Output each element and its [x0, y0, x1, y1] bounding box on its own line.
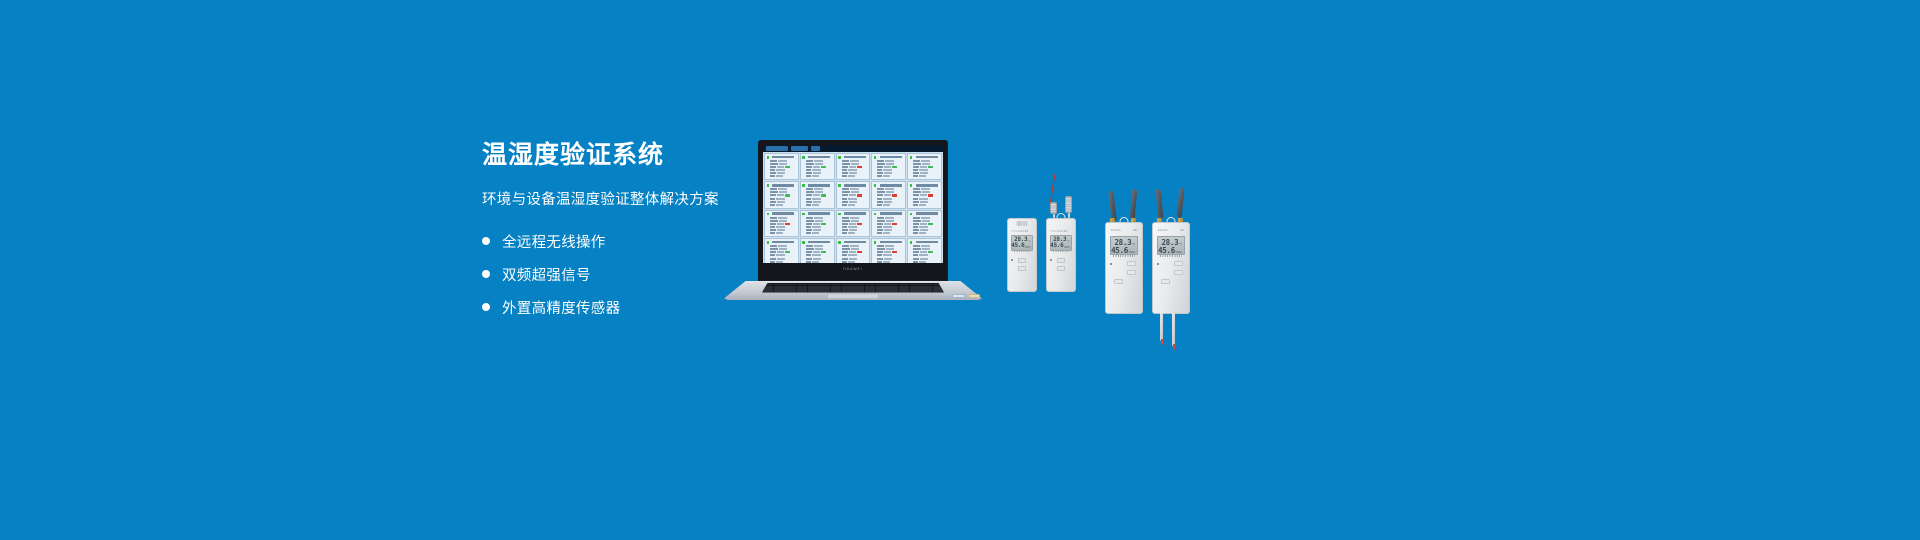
device-button-set[interactable]	[1161, 279, 1170, 284]
sensor-card-line	[913, 194, 940, 196]
sensor-status-dot-icon	[802, 213, 805, 216]
sensor-field-value	[776, 169, 785, 171]
keyboard-key[interactable]	[763, 290, 774, 292]
sensor-card[interactable]	[800, 181, 835, 208]
sensor-card-line	[913, 166, 940, 168]
sensor-card-line	[806, 160, 833, 162]
sensor-field-key	[842, 229, 848, 231]
device-button-up[interactable]	[1174, 261, 1183, 266]
sensor-field-key	[913, 220, 921, 222]
sensor-field-key	[842, 166, 848, 168]
sensor-field-key	[806, 204, 811, 206]
sensor-card-line	[770, 166, 797, 168]
sensor-card-line	[913, 248, 940, 250]
sensor-field-key	[877, 163, 885, 165]
device-button-up[interactable]	[1127, 261, 1136, 266]
sensor-field-value	[922, 163, 930, 165]
keyboard-key[interactable]	[865, 290, 876, 292]
sensor-field-value	[920, 194, 927, 196]
sensor-card-line	[806, 245, 833, 247]
sensor-card-title	[772, 156, 794, 159]
sensor-card-line	[806, 175, 833, 177]
sensor-field-value	[848, 232, 855, 234]
keyboard-key[interactable]	[797, 290, 808, 292]
sensor-card-line	[877, 201, 904, 203]
sensor-card-line	[877, 169, 904, 171]
sensor-field-value	[849, 251, 856, 253]
sensor-card-line	[877, 232, 904, 234]
monitoring-dashboard	[763, 145, 943, 263]
status-badge	[785, 251, 790, 253]
sensor-field-value	[919, 204, 926, 206]
sensor-field-value	[849, 201, 857, 203]
probe-sensor-cap-right	[1065, 196, 1072, 213]
lcd-temperature-unit: ℃	[1179, 243, 1182, 247]
sensor-card-line	[842, 217, 869, 219]
sensor-field-value	[883, 226, 892, 228]
sensor-status-dot-icon	[767, 213, 770, 216]
status-badge	[892, 166, 897, 168]
sensor-field-value	[850, 217, 859, 219]
sensor-field-key	[806, 217, 813, 219]
sensor-field-value	[884, 251, 891, 253]
sensor-field-key	[770, 175, 775, 177]
sensor-card-line	[842, 220, 869, 222]
sensor-status-dot-icon	[838, 156, 841, 159]
sensor-card-line	[842, 204, 869, 206]
sensor-card-line	[770, 188, 797, 190]
sensor-field-key	[842, 201, 848, 203]
device-brand-label: TH-LOGGER	[1011, 230, 1029, 233]
sensor-field-value	[814, 188, 823, 190]
sensor-card-line	[913, 217, 940, 219]
sensor-card-title	[844, 212, 866, 215]
sensor-field-value	[884, 194, 891, 196]
sensor-card-line	[806, 201, 833, 203]
external-probe-left	[1160, 313, 1163, 341]
sensor-card-line	[842, 198, 869, 200]
sensor-card-title	[916, 184, 938, 187]
sensor-card-line	[806, 163, 833, 165]
sensor-card-line	[770, 163, 797, 165]
lcd-temperature-unit: ℃	[1028, 240, 1031, 244]
sensor-card-line	[877, 245, 904, 247]
sensor-card-line	[913, 172, 940, 174]
lcd-humidity-row: 45.6 %RH	[1160, 247, 1182, 255]
sensor-card-line	[877, 248, 904, 250]
sensor-field-value	[884, 223, 891, 225]
device-wireless-logger-2: EN/ON HB 28.3 ℃ 45.6 %RH	[1152, 222, 1190, 314]
bullet-dot-icon	[482, 237, 490, 245]
sensor-field-value	[921, 188, 930, 190]
sensor-card-title	[772, 184, 794, 187]
sensor-card[interactable]	[764, 153, 799, 180]
lcd-temperature-unit: ℃	[1067, 240, 1070, 244]
sensor-card-title	[808, 184, 830, 187]
sensor-card[interactable]	[907, 181, 942, 208]
lcd-humidity-row: 45.6 %RH	[1113, 247, 1135, 255]
lcd-humidity-row: 45.6 %RH	[1053, 243, 1070, 249]
sensor-field-key	[842, 188, 849, 190]
sensor-field-key	[842, 204, 847, 206]
sensor-card[interactable]	[800, 210, 835, 237]
sensor-field-value	[814, 160, 823, 162]
sensor-card-line	[842, 172, 869, 174]
sensor-field-key	[770, 163, 778, 165]
keyboard-key[interactable]	[819, 290, 830, 292]
tab-realtime-monitor[interactable]	[766, 146, 788, 151]
sensor-field-key	[913, 229, 919, 231]
sensor-field-value	[885, 188, 894, 190]
sensor-field-value	[921, 217, 930, 219]
device-button-up[interactable]	[1057, 258, 1065, 263]
keyboard-key[interactable]	[831, 290, 842, 292]
status-led-icon	[1011, 259, 1013, 261]
sensor-card-line	[806, 254, 833, 256]
sensor-field-value	[920, 251, 927, 253]
sensor-field-value	[812, 198, 821, 200]
sensor-field-value	[922, 220, 930, 222]
device-label-power: EN/ON	[1111, 229, 1121, 232]
keyboard-key[interactable]	[774, 290, 785, 292]
sensor-card-line	[913, 204, 940, 206]
laptop-sticker-badge	[968, 294, 980, 299]
sensor-field-value	[777, 251, 784, 253]
sensor-field-value	[778, 160, 787, 162]
keyboard-key[interactable]	[933, 290, 944, 292]
sensor-card[interactable]	[907, 210, 942, 237]
sensor-field-value	[812, 254, 821, 256]
sensor-status-dot-icon	[767, 241, 770, 244]
keyboard-key[interactable]	[910, 290, 921, 292]
sensor-card-line	[913, 226, 940, 228]
sensor-card-line	[877, 160, 904, 162]
sensor-card[interactable]	[836, 210, 871, 237]
sensor-field-value	[850, 188, 859, 190]
sensor-card-line	[913, 251, 940, 253]
sensor-status-dot-icon	[767, 156, 770, 159]
sensor-field-key	[806, 169, 811, 171]
sensor-field-value	[884, 201, 892, 203]
tab-settings[interactable]	[811, 146, 820, 151]
sensor-card-title	[772, 212, 794, 215]
sensor-field-value	[776, 226, 785, 228]
sensor-card-line	[913, 245, 940, 247]
status-badge	[928, 166, 933, 168]
lcd-humidity-value: 45.6	[1011, 243, 1024, 249]
sensor-status-dot-icon	[767, 184, 770, 187]
sensor-status-dot-icon	[874, 241, 877, 244]
sensor-field-value	[777, 201, 785, 203]
sensor-card[interactable]	[800, 153, 835, 180]
sensor-field-key	[913, 169, 918, 171]
sensor-card[interactable]	[836, 181, 871, 208]
lcd-humidity-value: 45.6	[1111, 247, 1128, 255]
sensor-card-line	[913, 163, 940, 165]
feature-label: 全远程无线操作	[502, 231, 606, 252]
device-button-set[interactable]	[1114, 279, 1123, 284]
sensor-field-key	[842, 223, 848, 225]
sensor-status-dot-icon	[874, 156, 877, 159]
sensor-field-key	[913, 254, 918, 256]
sensor-card-line	[877, 194, 904, 196]
sensor-field-key	[806, 188, 813, 190]
device-labels: EN/ON HB	[1105, 229, 1143, 232]
sensor-field-value	[922, 191, 930, 193]
sensor-field-key	[770, 191, 778, 193]
sensor-card-line	[770, 172, 797, 174]
sensor-field-value	[813, 251, 820, 253]
sensor-card-line	[877, 229, 904, 231]
lcd-humidity-unit: %RH	[1064, 246, 1070, 250]
sensor-field-value	[812, 232, 819, 234]
sensor-field-key	[913, 198, 918, 200]
sensor-card-line	[842, 226, 869, 228]
device-button-down[interactable]	[1174, 270, 1183, 275]
sensor-field-key	[770, 223, 776, 225]
antenna-right-icon	[1130, 189, 1137, 219]
sensor-field-key	[806, 198, 811, 200]
device-button-down[interactable]	[1018, 266, 1026, 271]
sensor-field-key	[842, 160, 849, 162]
sensor-status-dot-icon	[838, 213, 841, 216]
sensor-card-line	[913, 191, 940, 193]
device-button-down[interactable]	[1127, 270, 1136, 275]
sensor-field-key	[842, 194, 848, 196]
sensor-card[interactable]	[764, 181, 799, 208]
sensor-field-key	[877, 169, 882, 171]
sensor-field-value	[884, 172, 892, 174]
sensor-field-value	[848, 226, 857, 228]
sensor-field-key	[913, 248, 921, 250]
sensor-field-key	[770, 188, 777, 190]
keyboard-key[interactable]	[899, 290, 910, 292]
sensor-field-key	[770, 160, 777, 162]
laptop-sticker-spec	[952, 294, 965, 299]
feature-label: 双频超强信号	[502, 264, 591, 285]
sensor-field-key	[877, 172, 883, 174]
sensor-field-key	[842, 248, 850, 250]
sensor-status-dot-icon	[874, 184, 877, 187]
alarm-badge	[857, 251, 862, 253]
hero-banner: 温湿度验证系统 环境与设备温湿度验证整体解决方案 全远程无线操作 双频超强信号 …	[0, 0, 1920, 540]
sensor-card-line	[913, 220, 940, 222]
sensor-card-line	[770, 220, 797, 222]
sensor-field-value	[885, 245, 894, 247]
sensor-field-value	[813, 223, 820, 225]
sensor-field-value	[776, 175, 783, 177]
sensor-card-line	[913, 175, 940, 177]
sensor-card-line	[913, 198, 940, 200]
sensor-card[interactable]	[871, 153, 906, 180]
antenna-left-icon	[1155, 189, 1163, 219]
keyboard-key[interactable]	[785, 290, 796, 292]
sensor-field-value	[886, 163, 894, 165]
sensor-card-line	[877, 172, 904, 174]
sensor-field-key	[842, 220, 850, 222]
sensor-field-key	[806, 172, 812, 174]
sensor-card-line	[877, 251, 904, 253]
sensor-field-key	[913, 232, 918, 234]
device-button-up[interactable]	[1018, 258, 1026, 263]
sensor-card-grid	[763, 152, 943, 263]
device-button-down[interactable]	[1057, 266, 1065, 271]
sensor-field-value	[776, 204, 783, 206]
sensor-field-key	[842, 169, 847, 171]
sensor-card-title	[772, 241, 794, 244]
sensor-field-value	[886, 220, 894, 222]
sensor-field-key	[806, 201, 812, 203]
sensor-field-value	[776, 254, 785, 256]
sensor-card-title	[808, 212, 830, 215]
sensor-card-title	[808, 156, 830, 159]
sensor-card-line	[842, 160, 869, 162]
sensor-field-value	[921, 160, 930, 162]
sensor-field-value	[776, 198, 785, 200]
sensor-field-value	[922, 248, 930, 250]
probe-sensor-cap-left	[1050, 202, 1057, 214]
sensor-field-value	[920, 166, 927, 168]
lcd-segment-bar	[1014, 250, 1031, 252]
sensor-field-value	[886, 248, 894, 250]
keyboard-key[interactable]	[842, 290, 853, 292]
sensor-field-key	[842, 254, 847, 256]
laptop-product-image: HUAWEI	[722, 140, 984, 300]
sensor-field-value	[851, 163, 859, 165]
lcd-humidity-unit: %RH	[1025, 246, 1031, 250]
sensor-field-value	[815, 248, 823, 250]
sensor-card-line	[913, 254, 940, 256]
sensor-field-value	[848, 169, 857, 171]
keyboard-key[interactable]	[853, 290, 864, 292]
sensor-field-key	[842, 251, 848, 253]
sensor-card-title	[808, 241, 830, 244]
sensor-card[interactable]	[836, 153, 871, 180]
sensor-field-value	[883, 175, 890, 177]
sensor-card-line	[842, 201, 869, 203]
sensor-field-value	[776, 232, 783, 234]
sensor-field-key	[770, 198, 775, 200]
sensor-card[interactable]	[764, 210, 799, 237]
sensor-field-key	[877, 248, 885, 250]
alarm-badge	[892, 251, 897, 253]
sensor-field-value	[883, 198, 892, 200]
sensor-field-key	[770, 229, 776, 231]
probe-wire	[1050, 174, 1056, 204]
sensor-field-value	[777, 229, 785, 231]
sensor-field-key	[806, 248, 814, 250]
sensor-field-value	[813, 229, 821, 231]
sensor-card-line	[842, 254, 869, 256]
sensor-card-title	[880, 212, 902, 215]
sensor-field-value	[779, 191, 787, 193]
sensor-field-key	[913, 217, 920, 219]
laptop-brand-strip: HUAWEI	[758, 260, 948, 278]
sensor-field-key	[877, 191, 885, 193]
sensor-card[interactable]	[871, 210, 906, 237]
sensor-field-key	[770, 254, 775, 256]
sensor-card-title	[844, 241, 866, 244]
sensor-field-key	[806, 245, 813, 247]
sensor-field-key	[913, 194, 919, 196]
sensor-card-line	[806, 226, 833, 228]
status-badge	[821, 166, 826, 168]
sensor-field-key	[806, 254, 811, 256]
sensor-field-value	[848, 204, 855, 206]
lcd-segment-bar	[1160, 255, 1182, 257]
sensor-card-line	[877, 163, 904, 165]
device-lcd-display: 28.3 ℃ 45.6 %RH	[1110, 236, 1138, 255]
sensor-field-key	[877, 201, 883, 203]
sensor-card-line	[842, 223, 869, 225]
sensor-field-value	[886, 191, 894, 193]
device-label-power: EN/ON	[1158, 229, 1168, 232]
external-probe-tip-right	[1173, 344, 1175, 350]
status-badge	[785, 166, 790, 168]
device-logger-small: TH-LOGGER 28.3 ℃ 45.6 %RH	[1007, 218, 1037, 292]
alarm-badge	[928, 194, 933, 196]
sensor-field-value	[851, 248, 859, 250]
sensor-field-key	[877, 220, 885, 222]
sensor-field-value	[778, 188, 787, 190]
sensor-card-line	[770, 229, 797, 231]
sensor-field-value	[814, 217, 823, 219]
sensor-field-key	[877, 245, 884, 247]
sensor-status-dot-icon	[838, 241, 841, 244]
sensor-field-value	[777, 166, 784, 168]
sensor-field-value	[919, 254, 928, 256]
sensor-card-line	[842, 229, 869, 231]
keyboard-key[interactable]	[876, 290, 887, 292]
sensor-card[interactable]	[871, 181, 906, 208]
sensor-field-key	[842, 245, 849, 247]
sensor-card-line	[877, 226, 904, 228]
sensor-field-value	[919, 169, 928, 171]
sensor-field-value	[849, 166, 856, 168]
sensor-card-line	[806, 217, 833, 219]
sensor-card-line	[806, 251, 833, 253]
sensor-field-value	[883, 254, 892, 256]
tab-data-management[interactable]	[791, 146, 808, 151]
keyboard-key[interactable]	[808, 290, 819, 292]
sensor-field-value	[778, 245, 787, 247]
feature-label: 外置高精度传感器	[502, 297, 620, 318]
sensor-field-key	[770, 245, 777, 247]
sensor-field-key	[842, 172, 848, 174]
sensor-field-key	[877, 254, 882, 256]
lcd-temperature-unit: ℃	[1132, 243, 1135, 247]
sensor-field-value	[849, 223, 856, 225]
lcd-humidity-value: 45.6	[1158, 247, 1175, 255]
sensor-field-key	[877, 229, 883, 231]
sensor-status-dot-icon	[910, 184, 913, 187]
sensor-field-key	[770, 232, 775, 234]
sensor-card[interactable]	[907, 153, 942, 180]
sensor-field-key	[842, 198, 847, 200]
keyboard-key[interactable]	[887, 290, 898, 292]
sensor-field-key	[877, 175, 882, 177]
sensor-card-line	[877, 188, 904, 190]
lcd-humidity-row: 45.6 %RH	[1014, 243, 1031, 249]
sensor-field-key	[913, 204, 918, 206]
device-label-hb: HB	[1180, 229, 1184, 232]
sensor-card-line	[913, 201, 940, 203]
sensor-field-key	[806, 163, 814, 165]
sensor-field-value	[777, 194, 784, 196]
device-lcd-display: 28.3 ℃ 45.6 %RH	[1011, 235, 1033, 251]
sensor-field-value	[919, 175, 926, 177]
keyboard-key[interactable]	[921, 290, 932, 292]
